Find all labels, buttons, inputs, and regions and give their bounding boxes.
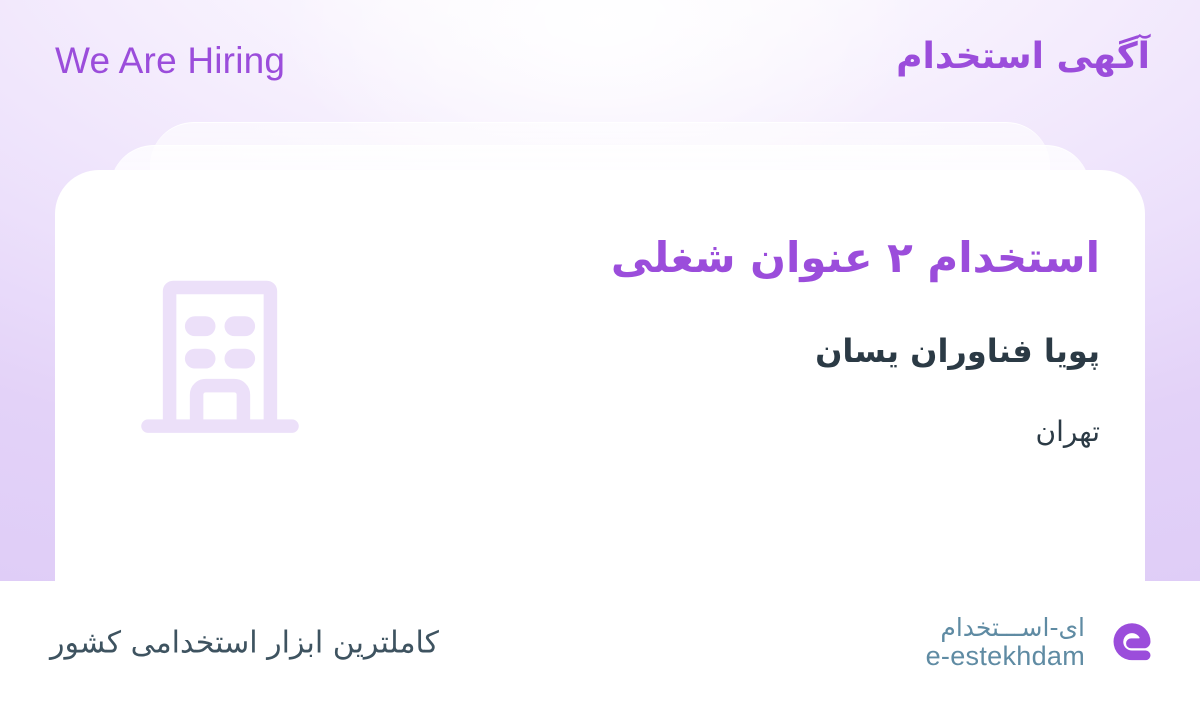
header-we-are-hiring-label: We Are Hiring: [55, 40, 285, 82]
building-icon: [130, 265, 310, 445]
header: We Are Hiring آگهی استخدام: [0, 0, 1200, 130]
company-name: پویا فناوران یسان: [460, 331, 1100, 373]
footer-tagline: کاملترین ابزار استخدامی کشور: [50, 626, 439, 661]
brand-name-latin: e-estekhdam: [926, 642, 1085, 671]
job-card[interactable]: استخدام ۲ عنوان شغلی پویا فناوران یسان ت…: [55, 170, 1145, 581]
footer: کاملترین ابزار استخدامی کشور ای-اســـتخد…: [0, 581, 1200, 705]
brand-name-persian: ای-اســـتخدام: [940, 615, 1085, 642]
poster-canvas: We Are Hiring آگهی استخدام: [0, 0, 1200, 705]
e-estekhdam-logo-icon: [1099, 610, 1165, 676]
brand-wordmark: ای-اســـتخدام e-estekhdam: [926, 615, 1085, 670]
job-info-block: استخدام ۲ عنوان شغلی پویا فناوران یسان ت…: [460, 232, 1100, 450]
footer-brand[interactable]: ای-اســـتخدام e-estekhdam: [926, 610, 1165, 676]
header-job-ad-label: آگهی استخدام: [896, 36, 1150, 77]
job-title: استخدام ۲ عنوان شغلی: [460, 232, 1100, 285]
job-location: تهران: [460, 414, 1100, 450]
